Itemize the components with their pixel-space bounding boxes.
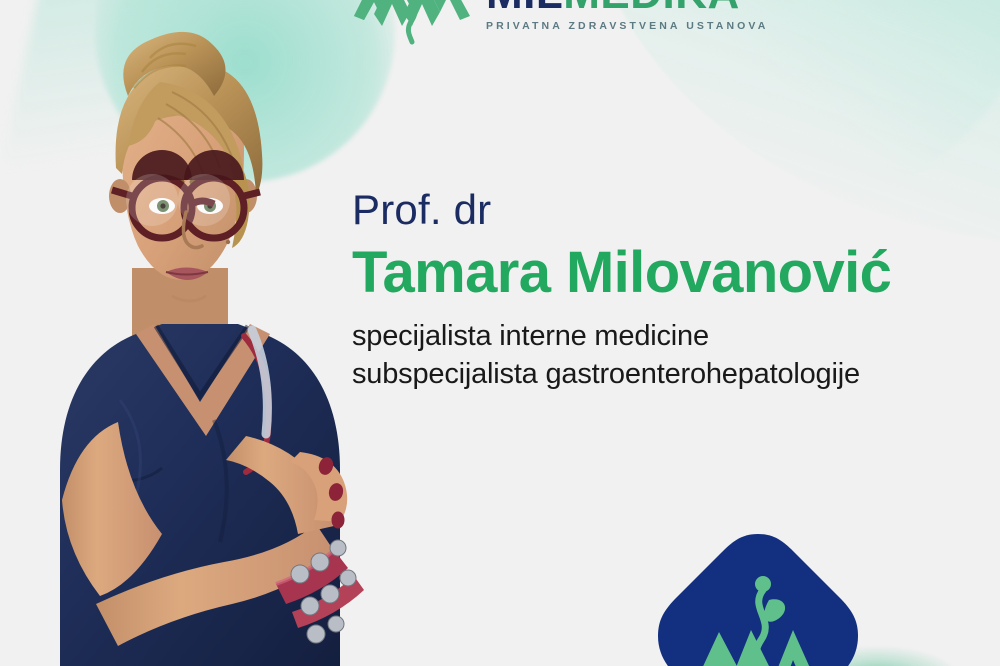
doctor-photo	[0, 0, 400, 666]
doctor-role-line-1: specijalista interne medicine	[352, 318, 1000, 356]
doctor-role-line-2: subspecijalista gastroenterohepatologije	[352, 356, 1000, 394]
brand-tagline: PRIVATNA ZDRAVSTVENA USTANOVA	[486, 20, 768, 32]
milmedika-badge	[653, 528, 863, 666]
doctor-text-block: Prof. dr Tamara Milovanović specijalista…	[352, 186, 1000, 393]
brand-name-part-2: MEDIKA	[563, 0, 740, 18]
doctor-roles: specijalista interne medicine subspecija…	[352, 318, 1000, 393]
brand-lockup: MILMEDIKA PRIVATNA ZDRAVSTVENA USTANOVA	[352, 0, 768, 46]
brand-name: MILMEDIKA	[486, 0, 768, 16]
brand-wordmark: MILMEDIKA PRIVATNA ZDRAVSTVENA USTANOVA	[486, 0, 768, 32]
brand-name-part-1: MIL	[486, 0, 563, 18]
milmedika-logo-mark-icon	[352, 0, 472, 46]
doctor-portrait-illustration	[0, 0, 400, 666]
doctor-profile-poster: MILMEDIKA PRIVATNA ZDRAVSTVENA USTANOVA	[0, 0, 1000, 666]
milmedika-badge-icon	[653, 528, 863, 666]
doctor-title-prefix: Prof. dr	[352, 186, 1000, 233]
doctor-name: Tamara Milovanović	[352, 241, 1000, 306]
